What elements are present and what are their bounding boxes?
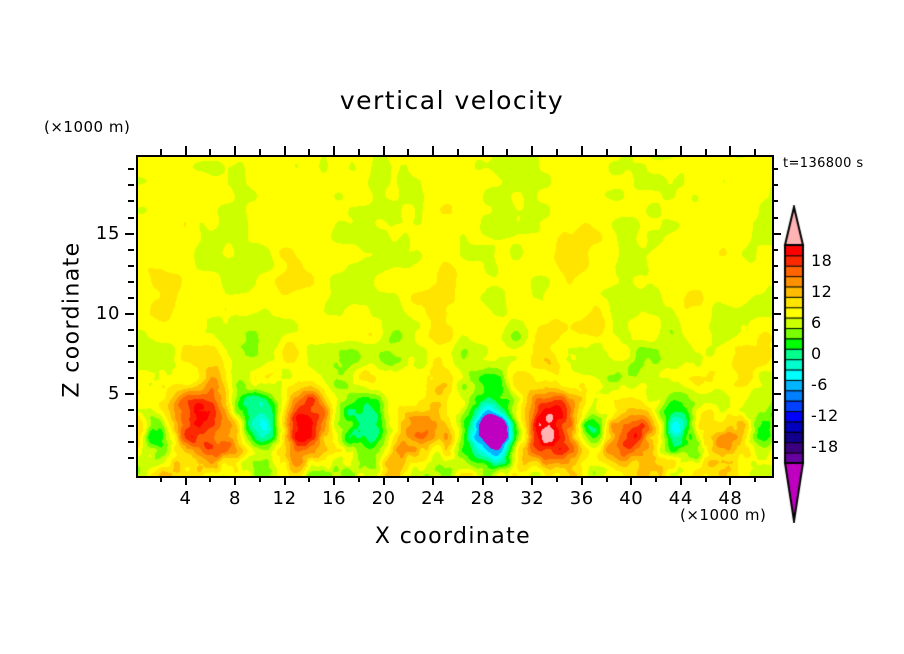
x-tick: [581, 476, 583, 485]
x-tick: [531, 476, 533, 485]
x-tick: [160, 476, 162, 482]
x-tick: [432, 146, 434, 155]
y-tick: [128, 457, 134, 459]
colorbar-tick-label: 18: [811, 251, 832, 270]
x-tick-label: 8: [213, 488, 257, 509]
x-tick: [259, 476, 261, 482]
x-tick: [234, 476, 236, 485]
y-tick: [772, 297, 778, 299]
x-tick: [209, 149, 211, 155]
x-tick-label: 24: [411, 488, 455, 509]
x-tick: [407, 476, 409, 482]
x-tick: [383, 476, 385, 485]
time-annotation: t=136800 s: [783, 156, 864, 171]
x-tick: [185, 146, 187, 155]
x-tick-label: 20: [362, 488, 406, 509]
x-tick: [482, 146, 484, 155]
y-tick: [128, 184, 134, 186]
x-tick: [185, 476, 187, 485]
y-tick: [772, 425, 778, 427]
x-tick: [284, 146, 286, 155]
x-tick: [506, 476, 508, 482]
colorbar-tick-label: 0: [811, 344, 822, 363]
y-tick: [128, 361, 134, 363]
y-tick: [128, 329, 134, 331]
colorbar-tick-label: -12: [811, 406, 839, 425]
x-tick: [358, 476, 360, 482]
x-tick: [432, 476, 434, 485]
x-axis-title: X coordinate: [136, 524, 770, 549]
y-tick: [772, 345, 778, 347]
x-tick: [556, 476, 558, 482]
y-units-label: (×1000 m): [44, 118, 130, 136]
y-axis-title: Z coordinate: [60, 205, 85, 435]
y-tick: [128, 168, 134, 170]
x-tick: [680, 476, 682, 485]
x-tick: [556, 149, 558, 155]
x-tick: [729, 476, 731, 485]
y-tick: [772, 393, 781, 395]
x-tick: [630, 476, 632, 485]
x-tick: [680, 146, 682, 155]
y-tick: [128, 441, 134, 443]
y-tick: [128, 200, 134, 202]
x-tick: [383, 146, 385, 155]
y-tick: [772, 457, 778, 459]
x-tick: [333, 476, 335, 485]
colorbar-tick-label: -6: [811, 375, 828, 394]
x-units-label: (×1000 m): [680, 506, 766, 524]
x-tick: [259, 149, 261, 155]
y-tick: [128, 409, 134, 411]
colorbar: [783, 205, 813, 523]
x-tick-label: 12: [263, 488, 307, 509]
x-tick: [482, 476, 484, 485]
x-tick: [705, 476, 707, 482]
x-tick: [358, 149, 360, 155]
y-tick: [125, 233, 134, 235]
x-tick-label: 28: [461, 488, 505, 509]
x-tick: [457, 149, 459, 155]
y-tick: [128, 425, 134, 427]
x-tick: [655, 476, 657, 482]
x-tick: [581, 146, 583, 155]
colorbar-tick-label: 6: [811, 313, 822, 332]
x-tick: [209, 476, 211, 482]
page-title: vertical velocity: [0, 86, 904, 115]
contour-field: [138, 157, 772, 476]
x-tick: [754, 149, 756, 155]
colorbar-gradient: [783, 205, 813, 523]
y-tick: [772, 265, 778, 267]
x-tick: [457, 476, 459, 482]
y-tick: [772, 361, 778, 363]
x-tick: [754, 476, 756, 482]
x-tick-label: 16: [312, 488, 356, 509]
x-tick: [333, 146, 335, 155]
colorbar-tick-label: 12: [811, 282, 832, 301]
x-tick: [407, 149, 409, 155]
y-tick: [128, 297, 134, 299]
x-tick: [606, 149, 608, 155]
y-tick: [772, 441, 778, 443]
x-tick: [729, 146, 731, 155]
x-tick: [284, 476, 286, 485]
y-tick: [772, 409, 778, 411]
plot-area: [136, 155, 774, 478]
x-tick: [630, 146, 632, 155]
y-tick: [772, 217, 778, 219]
y-tick: [772, 233, 781, 235]
y-tick: [772, 184, 778, 186]
y-tick: [772, 281, 778, 283]
y-tick: [772, 168, 778, 170]
x-tick: [705, 149, 707, 155]
y-tick: [125, 393, 134, 395]
x-tick: [606, 476, 608, 482]
x-tick: [234, 146, 236, 155]
y-tick: [772, 249, 778, 251]
y-tick: [128, 345, 134, 347]
y-tick: [128, 265, 134, 267]
y-tick: [772, 200, 778, 202]
x-tick: [308, 149, 310, 155]
x-tick: [531, 146, 533, 155]
y-tick: [125, 313, 134, 315]
y-tick: [772, 377, 778, 379]
y-tick: [128, 281, 134, 283]
x-tick: [655, 149, 657, 155]
x-tick-label: 36: [560, 488, 604, 509]
x-tick-label: 40: [609, 488, 653, 509]
y-tick: [128, 217, 134, 219]
x-tick-label: 4: [164, 488, 208, 509]
y-tick: [128, 249, 134, 251]
x-tick: [308, 476, 310, 482]
y-tick: [772, 329, 778, 331]
y-tick: [128, 377, 134, 379]
x-tick-label: 32: [510, 488, 554, 509]
y-tick: [772, 313, 781, 315]
figure-root: vertical velocity (×1000 m) t=136800 s 4…: [0, 0, 904, 654]
x-tick: [506, 149, 508, 155]
colorbar-tick-label: -18: [811, 437, 839, 456]
x-tick: [160, 149, 162, 155]
